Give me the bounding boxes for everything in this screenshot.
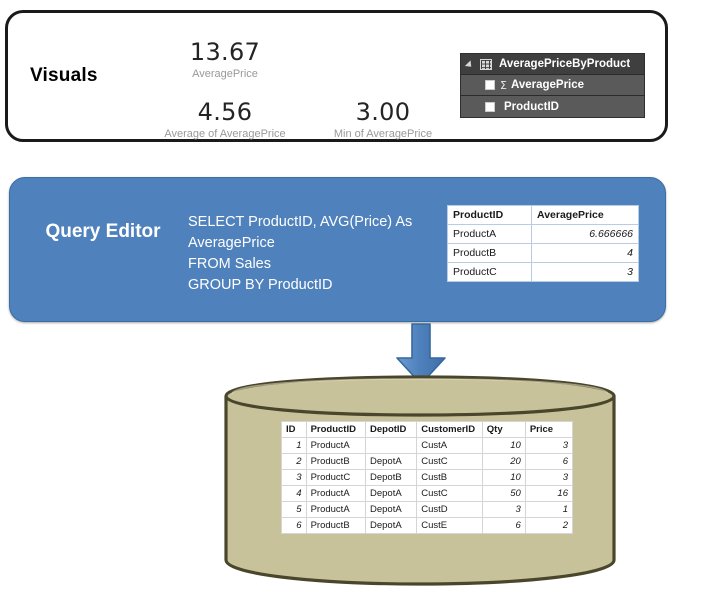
table-row: 2 ProductB DepotA CustC 20 6 [282,454,573,470]
cell-id: 2 [282,454,307,470]
sigma-icon: Σ [500,79,507,92]
cell-qty: 3 [482,502,525,518]
kpi-label: Min of AveragePrice [305,127,461,141]
cell-productid: ProductB [306,518,365,534]
cell-averageprice: 6.666666 [532,225,639,244]
field-label: ProductID [504,101,559,113]
table-row: 3 ProductC DepotB CustB 10 3 [282,470,573,486]
cell-id: 4 [282,486,307,502]
cell-averageprice: 3 [532,263,639,282]
table-row: ProductB 4 [448,244,639,263]
column-header: AveragePrice [532,206,639,225]
cell-productid: ProductA [448,225,532,244]
kpi-label: Average of AveragePrice [136,127,314,141]
table-icon [480,59,492,70]
visuals-panel: Visuals 13.67 AveragePrice 4.56 Average … [5,10,668,142]
cell-productid: ProductC [448,263,532,282]
cell-customerid: CustD [417,502,483,518]
visuals-panel-title: Visuals [30,65,150,87]
sql-query-text[interactable]: SELECT ProductID, AVG(Price) As AverageP… [188,212,438,296]
table-row: ProductA 6.666666 [448,225,639,244]
cell-depotid: DepotB [366,470,417,486]
cell-productid: ProductC [306,470,365,486]
cell-price: 2 [525,518,572,534]
cell-customerid: CustA [417,438,483,454]
column-header: DepotID [366,422,417,438]
field-checkbox[interactable] [485,102,495,112]
table-header-row: ID ProductID DepotID CustomerID Qty Pric… [282,422,573,438]
cell-productid: ProductB [306,454,365,470]
query-editor-title: Query Editor [38,218,168,245]
cell-productid: ProductB [448,244,532,263]
table-row: 6 ProductB DepotA CustE 6 2 [282,518,573,534]
query-result-table: ProductID AveragePrice ProductA 6.666666… [447,205,639,282]
fields-table-name: AveragePriceByProduct [499,58,630,70]
field-checkbox[interactable] [485,80,495,90]
cell-price: 3 [525,438,572,454]
cell-depotid: DepotA [366,486,417,502]
column-header: ID [282,422,307,438]
cell-price: 6 [525,454,572,470]
kpi-card-averageprice[interactable]: 13.67 AveragePrice [150,39,300,81]
cell-productid: ProductA [306,438,365,454]
column-header: ProductID [448,206,532,225]
cell-price: 1 [525,502,572,518]
cell-id: 1 [282,438,307,454]
column-header: CustomerID [417,422,483,438]
field-label: AveragePrice [511,79,584,91]
cell-price: 16 [525,486,572,502]
cell-productid: ProductA [306,502,365,518]
cell-qty: 20 [482,454,525,470]
fields-table-node[interactable]: AveragePriceByProduct [461,54,644,75]
table-row: 5 ProductA DepotA CustD 3 1 [282,502,573,518]
cell-customerid: CustE [417,518,483,534]
cell-price: 3 [525,470,572,486]
column-header: Qty [482,422,525,438]
kpi-card-average-of-averageprice[interactable]: 4.56 Average of AveragePrice [136,99,314,141]
cell-depotid: DepotA [366,518,417,534]
table-row: 4 ProductA DepotA CustC 50 16 [282,486,573,502]
field-item-productid[interactable]: ProductID [461,96,644,117]
cell-id: 5 [282,502,307,518]
kpi-value: 4.56 [136,99,314,125]
cell-customerid: CustB [417,470,483,486]
cell-depotid: DepotA [366,454,417,470]
kpi-value: 13.67 [150,39,300,65]
cell-id: 6 [282,518,307,534]
cell-id: 3 [282,470,307,486]
kpi-label: AveragePrice [150,67,300,81]
fields-pane: AveragePriceByProduct Σ AveragePrice Pro… [460,53,645,118]
column-header: ProductID [306,422,365,438]
cell-depotid [366,438,417,454]
cell-customerid: CustC [417,486,483,502]
cell-qty: 10 [482,438,525,454]
cell-qty: 10 [482,470,525,486]
chevron-down-icon[interactable] [467,60,476,69]
cell-qty: 50 [482,486,525,502]
cell-qty: 6 [482,518,525,534]
cell-customerid: CustC [417,454,483,470]
table-header-row: ProductID AveragePrice [448,206,639,225]
source-data-table: ID ProductID DepotID CustomerID Qty Pric… [281,421,573,534]
cell-depotid: DepotA [366,502,417,518]
kpi-card-min-of-averageprice[interactable]: 3.00 Min of AveragePrice [305,99,461,141]
kpi-value: 3.00 [305,99,461,125]
cell-productid: ProductA [306,486,365,502]
column-header: Price [525,422,572,438]
table-row: ProductC 3 [448,263,639,282]
field-item-averageprice[interactable]: Σ AveragePrice [461,75,644,96]
table-row: 1 ProductA CustA 10 3 [282,438,573,454]
cell-averageprice: 4 [532,244,639,263]
